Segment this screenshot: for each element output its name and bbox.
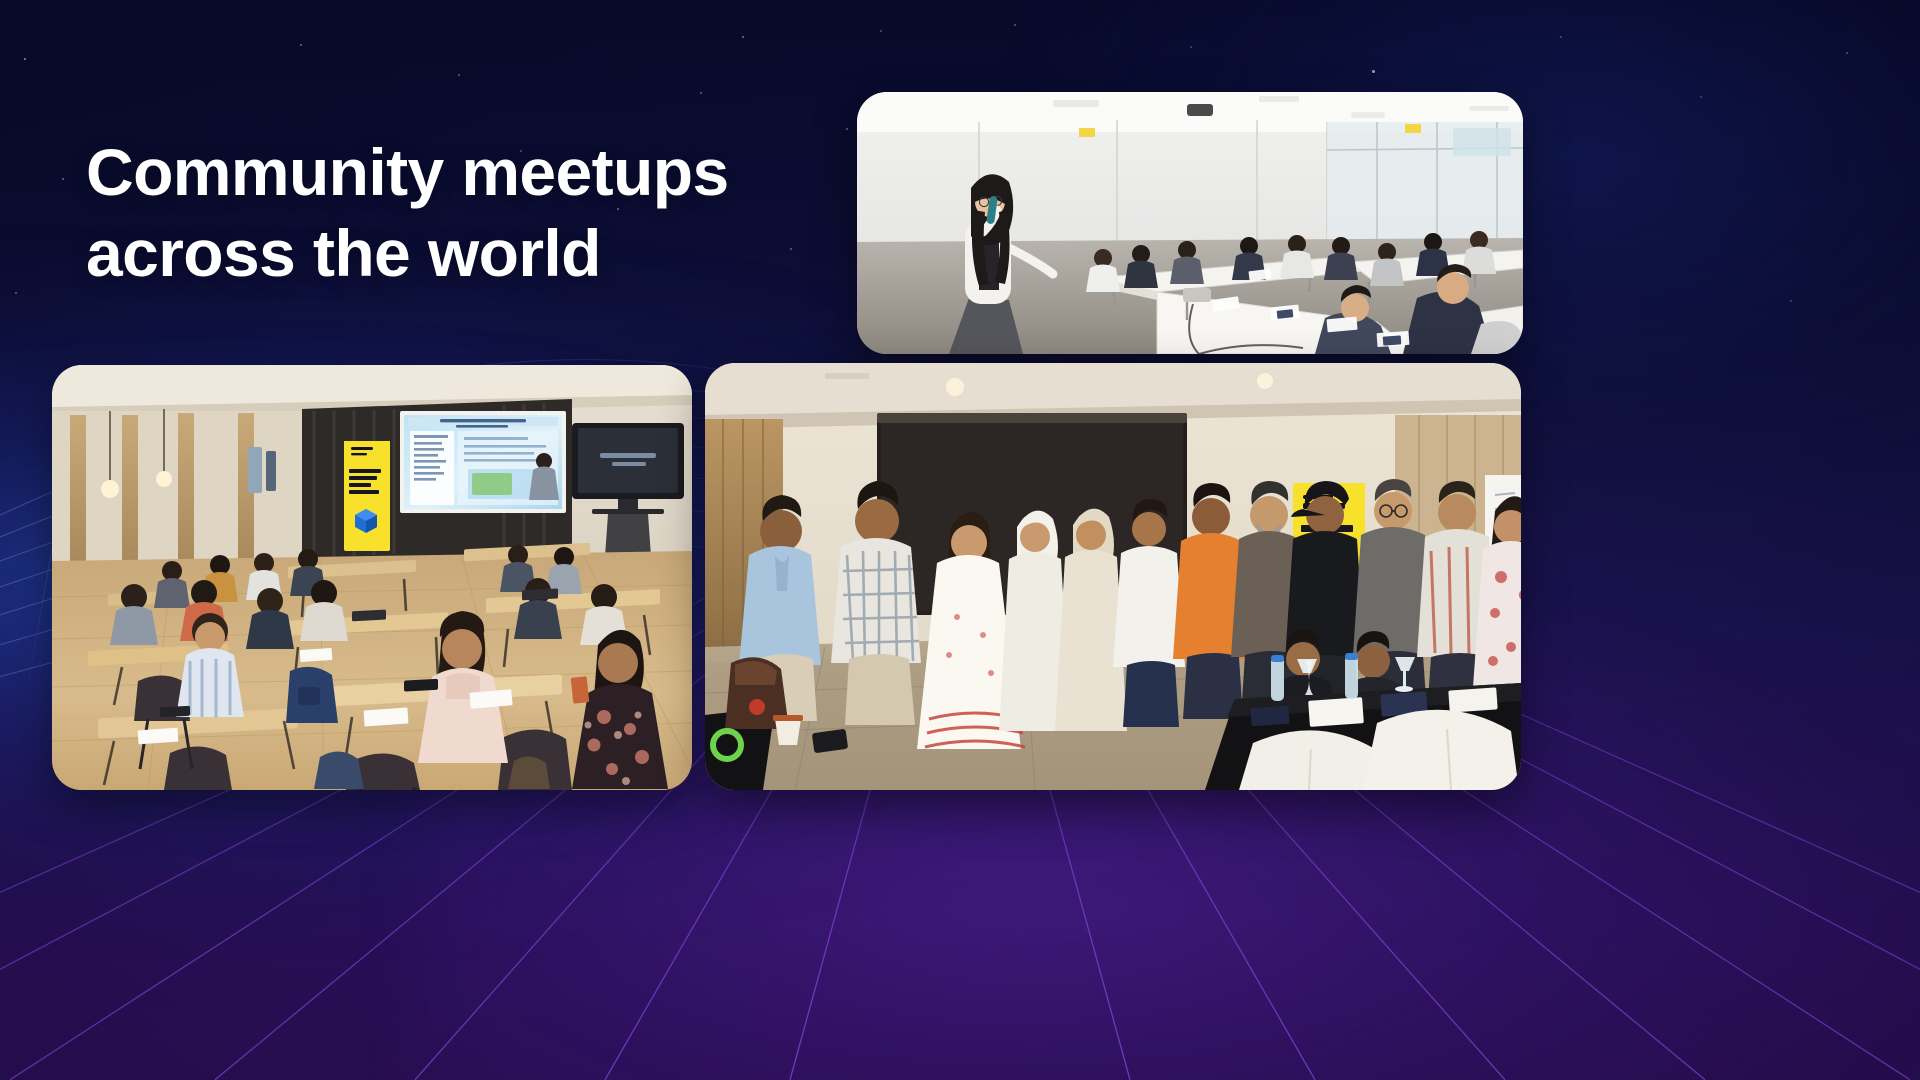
- photo-meetup-conference-room-speaker[interactable]: Woman speaking into a microphone at a U-…: [857, 92, 1523, 354]
- photo-content-group-photo: [705, 363, 1521, 790]
- slide-canvas: Community meetups across the world: [0, 0, 1920, 1080]
- photo-content-conference-room: [857, 92, 1523, 354]
- photo-content-seminar-room: [52, 365, 692, 790]
- page-title: Community meetups across the world: [86, 132, 846, 293]
- photo-meetup-group-photo[interactable]: Large group photo of meetup attendees st…: [705, 363, 1521, 790]
- page-title-line-1: Community meetups: [86, 132, 846, 213]
- page-title-line-2: across the world: [86, 213, 846, 294]
- photo-meetup-seminar-audience[interactable]: Seminar room with attendees at desks fac…: [52, 365, 692, 790]
